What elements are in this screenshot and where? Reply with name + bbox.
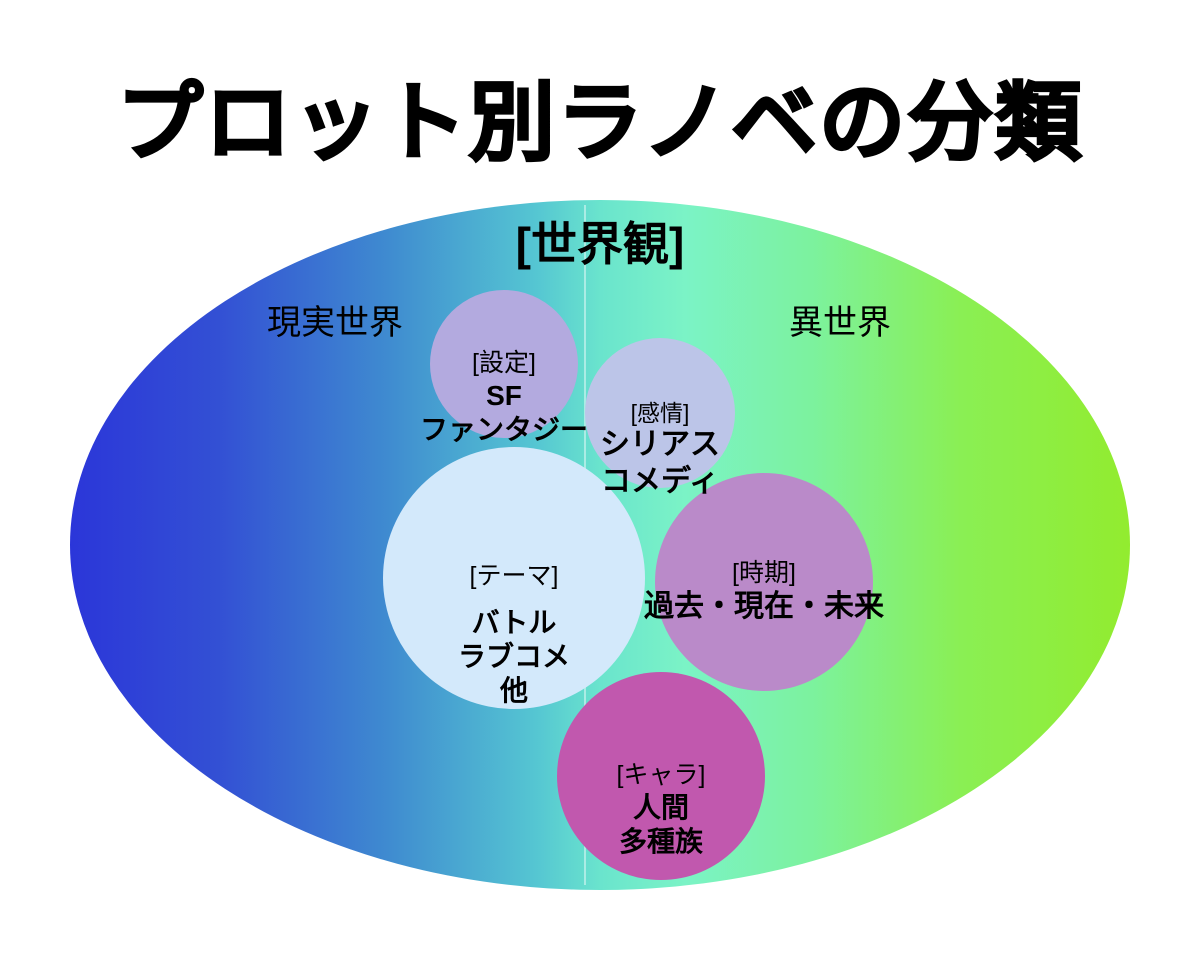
bubble-label-period: [時期] 過去・現在・未来 xyxy=(614,558,914,625)
bubble-value-emotion-0: シリアス xyxy=(510,427,810,464)
bubble-label-emotion: [感情] シリアス コメディ xyxy=(510,399,810,500)
bubble-value-period-0: 過去・現在・未来 xyxy=(614,589,914,626)
bubble-bracket-period: [時期] xyxy=(614,558,914,589)
bubble-label-character: [キャラ] 人間 多種族 xyxy=(511,760,811,859)
bubble-value-theme-1: ラブコメ xyxy=(364,640,664,674)
axis-title: [世界観] xyxy=(0,208,1200,274)
bubble-value-character-0: 人間 xyxy=(511,791,811,825)
bubble-value-character-1: 多種族 xyxy=(511,825,811,859)
bubble-bracket-character: [キャラ] xyxy=(511,760,811,791)
bubble-value-emotion-1: コメディ xyxy=(510,464,810,501)
axis-pole-left: 現実世界 xyxy=(185,295,485,344)
bubble-bracket-emotion: [感情] xyxy=(510,399,810,427)
bubble-value-theme-2: 他 xyxy=(364,674,664,708)
diagram-canvas: プロット別ラノベの分類 xyxy=(0,0,1200,960)
bubble-bracket-setting: [設定] xyxy=(354,348,654,379)
axis-pole-right: 異世界 xyxy=(690,295,990,344)
